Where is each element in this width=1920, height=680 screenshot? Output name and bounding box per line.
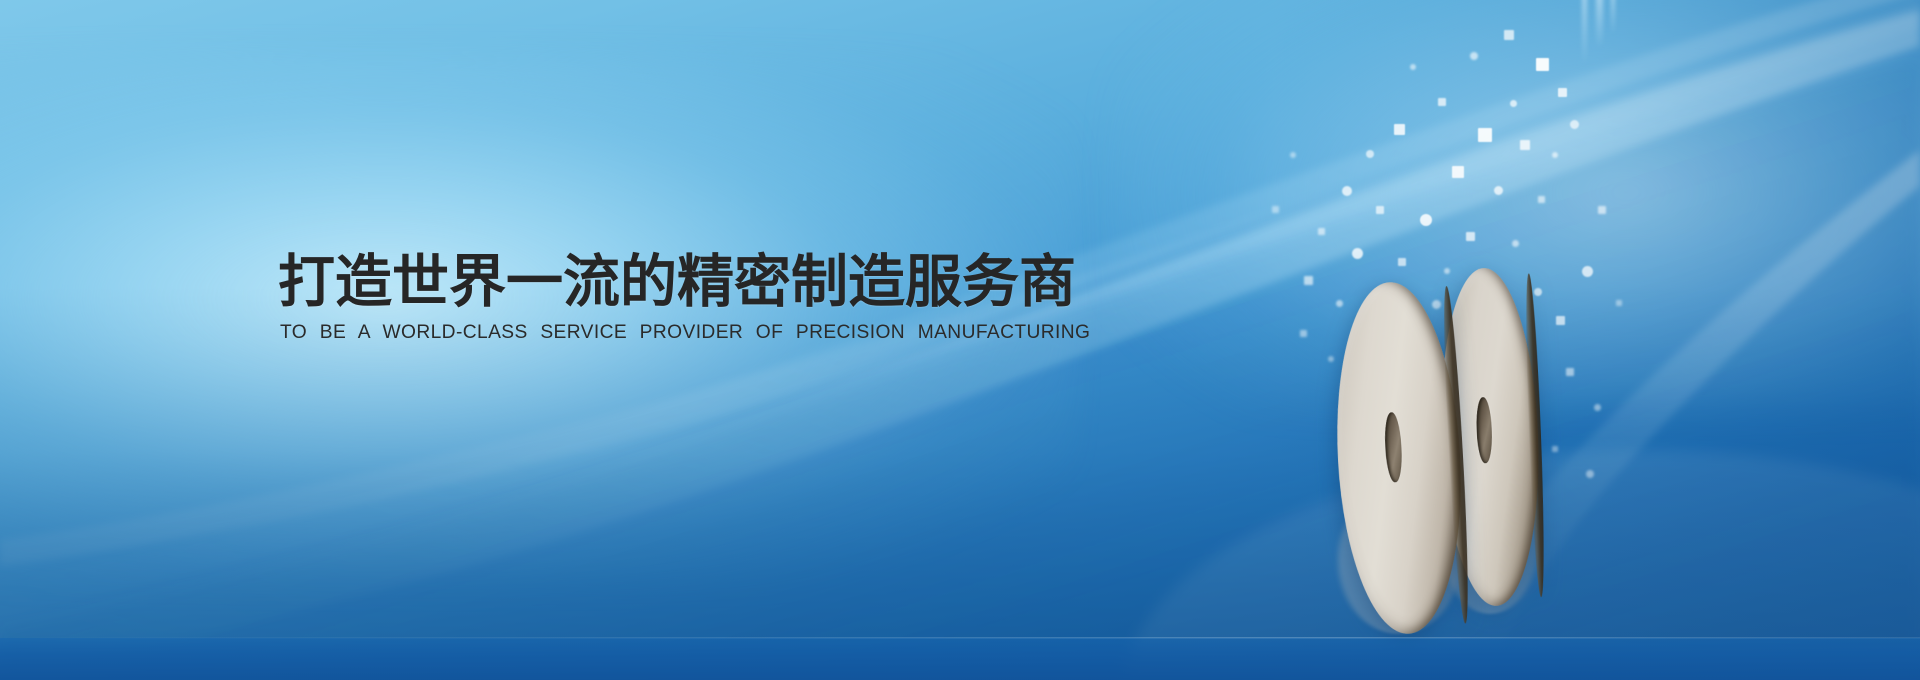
banner-copy: 打造世界一流的精密制造服务商 TO BE A WORLD-CLASS SERVI… <box>278 252 1178 344</box>
hero-banner: 打造世界一流的精密制造服务商 TO BE A WORLD-CLASS SERVI… <box>0 0 1920 680</box>
banner-subheadline: TO BE A WORLD-CLASS SERVICE PROVIDER OF … <box>280 321 1165 344</box>
light-streak-3 <box>1611 0 1615 34</box>
grinding-disc-left <box>1328 279 1469 637</box>
product-discs <box>1322 258 1572 658</box>
banner-headline: 打造世界一流的精密制造服务商 <box>278 252 1178 312</box>
light-streak-1 <box>1582 0 1587 64</box>
ground-plane <box>0 638 1920 680</box>
light-streak-2 <box>1596 0 1603 48</box>
